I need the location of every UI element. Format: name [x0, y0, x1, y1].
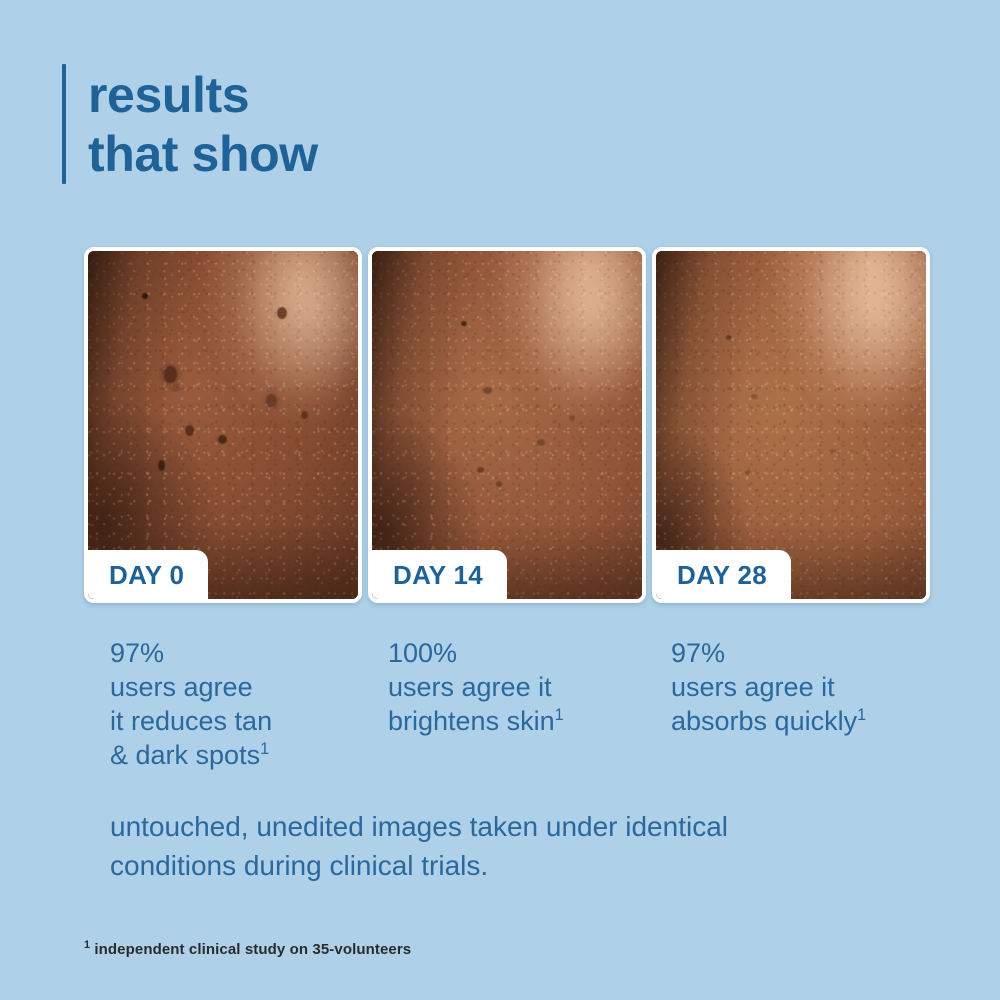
page-title: results that show — [88, 64, 318, 184]
stat-block-2: 97% users agree it absorbs quickly1 — [671, 636, 941, 772]
stat-text-2-line2: users agree it — [671, 670, 941, 704]
skin-photo-day-0 — [88, 251, 358, 599]
stat-percent-2: 97% — [671, 636, 941, 670]
stat-block-0: 97% users agree it reduces tan & dark sp… — [110, 636, 388, 772]
stat-text-1-line2: users agree it — [388, 670, 671, 704]
stat-text-2-line3: absorbs quickly1 — [671, 704, 941, 738]
before-after-photo-strip: DAY 0 DAY 14 — [84, 247, 930, 603]
headline-line-2: that show — [88, 125, 318, 184]
stat-text-1-line3: brightens skin1 — [388, 704, 671, 738]
photo-card-day-0: DAY 0 — [84, 247, 362, 603]
accent-bar — [62, 64, 66, 184]
stat-text-1-line3-text: brightens skin — [388, 706, 555, 736]
skin-photo-day-14 — [372, 251, 642, 599]
stat-text-2-line3-text: absorbs quickly — [671, 706, 857, 736]
footnote-marker: 1 — [555, 706, 564, 724]
headline-block: results that show — [62, 64, 318, 184]
stat-text-0-line3: it reduces tan — [110, 704, 388, 738]
day-label-tab-1: DAY 14 — [372, 550, 507, 599]
headline-line-1: results — [88, 66, 318, 125]
disclaimer-line-1: untouched, unedited images taken under i… — [110, 808, 910, 847]
day-label-tab-2: DAY 28 — [656, 550, 791, 599]
photo-card-day-14: DAY 14 — [368, 247, 646, 603]
disclaimer-text: untouched, unedited images taken under i… — [110, 808, 910, 885]
stat-percent-0: 97% — [110, 636, 388, 670]
photo-card-day-28: DAY 28 — [652, 247, 930, 603]
footnote-marker: 1 — [857, 706, 866, 724]
day-label-tab-0: DAY 0 — [88, 550, 208, 599]
disclaimer-line-2: conditions during clinical trials. — [110, 847, 910, 886]
footnote-text: independent clinical study on 35-volunte… — [90, 941, 411, 958]
stat-text-0-line4-text: & dark spots — [110, 740, 260, 770]
stat-block-1: 100% users agree it brightens skin1 — [388, 636, 671, 772]
stat-text-0-line2: users agree — [110, 670, 388, 704]
photo-vignette — [88, 251, 358, 599]
photo-vignette — [656, 251, 926, 599]
footnote-marker: 1 — [260, 740, 269, 758]
footnote: 1 independent clinical study on 35-volun… — [84, 941, 411, 958]
skin-photo-day-28 — [656, 251, 926, 599]
photo-vignette — [372, 251, 642, 599]
stats-row: 97% users agree it reduces tan & dark sp… — [110, 636, 950, 772]
stat-text-0-line4: & dark spots1 — [110, 738, 388, 772]
stat-percent-1: 100% — [388, 636, 671, 670]
